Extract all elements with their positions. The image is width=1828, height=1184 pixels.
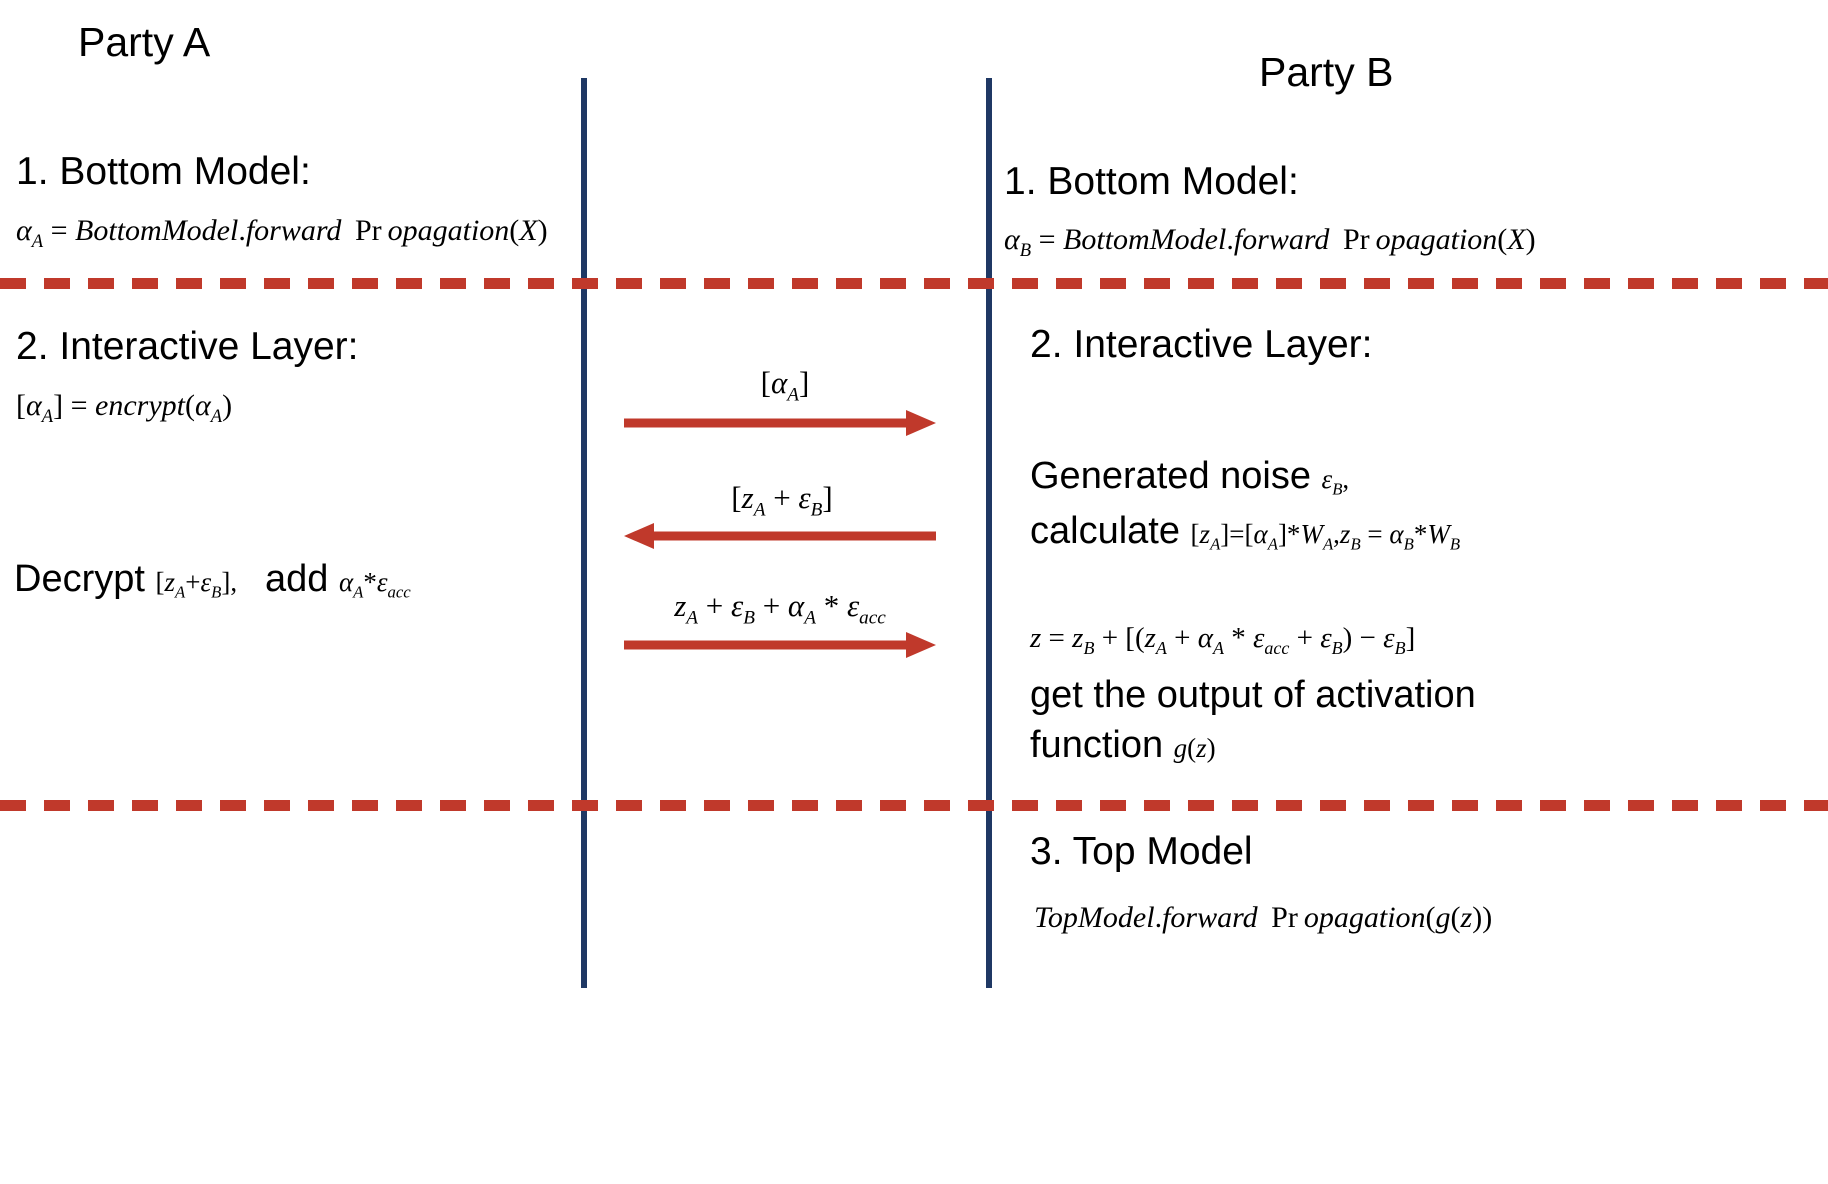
party-a-decrypt-text: Decrypt: [14, 558, 145, 600]
party-a-step2-heading: 2. Interactive Layer:: [16, 325, 359, 370]
party-b-activation-line-2: function g(z): [1030, 722, 1216, 770]
party-a-lifeline: [581, 78, 587, 988]
party-b-noise-formula: εB,: [1322, 464, 1350, 494]
arrow-label-za-epsb-alpha-epsacc: zA + εB + αA * εacc: [620, 588, 940, 624]
stage-separator-bottom: [0, 800, 1828, 811]
party-b-step1-formula: αB = BottomModel.forward Pr opagation(X): [1004, 222, 1536, 258]
stage-separator-top: [0, 278, 1828, 289]
party-b-step3-heading: 3. Top Model: [1030, 830, 1253, 875]
arrow-label-alpha-a: [αA]: [640, 365, 930, 401]
arrow-alpha-a: [624, 408, 936, 438]
party-b-z-formula: z = zB + [(zA + αA * εacc + εB) − εB]: [1030, 621, 1415, 656]
party-a-add-text: add: [265, 558, 328, 600]
party-b-activation-line-1: get the output of activation: [1030, 672, 1476, 720]
party-b-step3-formula: TopModel.forward Pr opagation(g(z)): [1034, 900, 1492, 936]
party-b-step2-heading: 2. Interactive Layer:: [1030, 323, 1373, 368]
party-a-title: Party A: [78, 20, 210, 65]
party-b-calculate-text: calculate: [1030, 510, 1180, 552]
party-a-step2-formula: [αA] = encrypt(αA): [16, 388, 232, 424]
party-b-activation-formula: g(z): [1174, 733, 1216, 763]
party-b-noise-text: Generated noise: [1030, 455, 1311, 497]
party-b-calculate-line: calculate [zA]=[αA]*WA,zB = αB*WB: [1030, 508, 1460, 556]
party-a-step1-heading: 1. Bottom Model:: [16, 150, 311, 195]
arrow-label-za-plus-epsb: [zA + εB]: [627, 480, 937, 516]
arrow-za-epsb-alpha-epsacc: [624, 630, 936, 660]
party-a-step1-formula: αA = BottomModel.forward Pr opagation(X): [16, 213, 548, 249]
party-b-lifeline: [986, 78, 992, 988]
party-b-title: Party B: [1259, 50, 1393, 95]
arrow-za-plus-epsb: [624, 521, 936, 551]
protocol-diagram: Party A Party B 1. Bottom Model: αA = Bo…: [0, 0, 1828, 1184]
party-b-activation-text: function: [1030, 724, 1163, 766]
party-a-add-formula: αA*εacc: [339, 567, 411, 597]
party-b-calculate-formula: [zA]=[αA]*WA,zB = αB*WB: [1191, 519, 1461, 549]
party-a-decrypt-line: Decrypt [zA+εB], add αA*εacc: [14, 556, 411, 604]
party-b-noise-line: Generated noise εB,: [1030, 453, 1349, 501]
party-a-decrypt-formula: [zA+εB],: [155, 567, 243, 597]
party-b-step1-heading: 1. Bottom Model:: [1004, 160, 1299, 205]
